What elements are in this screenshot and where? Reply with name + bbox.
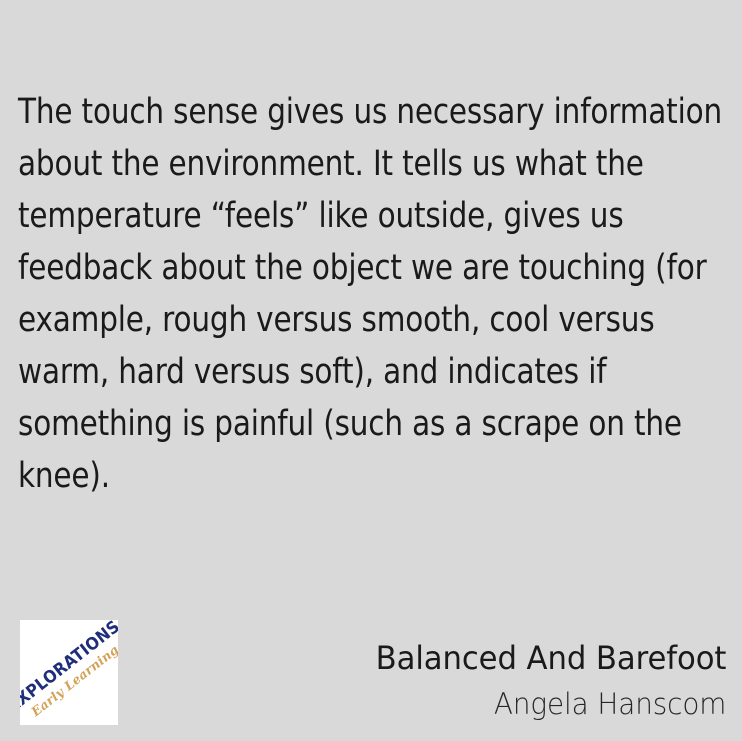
logo-inner: EXPLORATIONS Early Learning xyxy=(20,620,118,725)
quote-text: The touch sense gives us necessary infor… xyxy=(18,86,730,502)
quote-block: The touch sense gives us necessary infor… xyxy=(18,86,730,502)
attribution-source-title: Balanced And Barefoot xyxy=(375,635,726,682)
attribution: Balanced And Barefoot Angela Hanscom xyxy=(361,635,726,727)
quote-slide: The touch sense gives us necessary infor… xyxy=(0,0,742,741)
explorations-early-learning-logo: EXPLORATIONS Early Learning xyxy=(20,620,118,725)
attribution-author: Angela Hanscom xyxy=(375,682,726,727)
